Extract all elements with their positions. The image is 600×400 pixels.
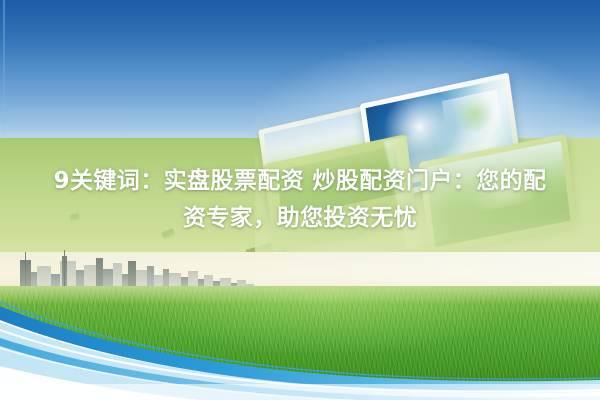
page-title: 9关键词：实盘股票配资 炒股配资门户：您的配 资专家，助您投资无忧 <box>0 163 600 237</box>
promo-banner: 9关键词：实盘股票配资 炒股配资门户：您的配 资专家，助您投资无忧 <box>0 0 600 400</box>
headline-line-1: 9关键词：实盘股票配资 炒股配资门户：您的配 <box>0 163 600 200</box>
headline-line-2: 资专家，助您投资无忧 <box>0 200 600 237</box>
sky-edge-highlight <box>3 0 5 142</box>
blue-ribbon-swoosh <box>0 280 600 400</box>
